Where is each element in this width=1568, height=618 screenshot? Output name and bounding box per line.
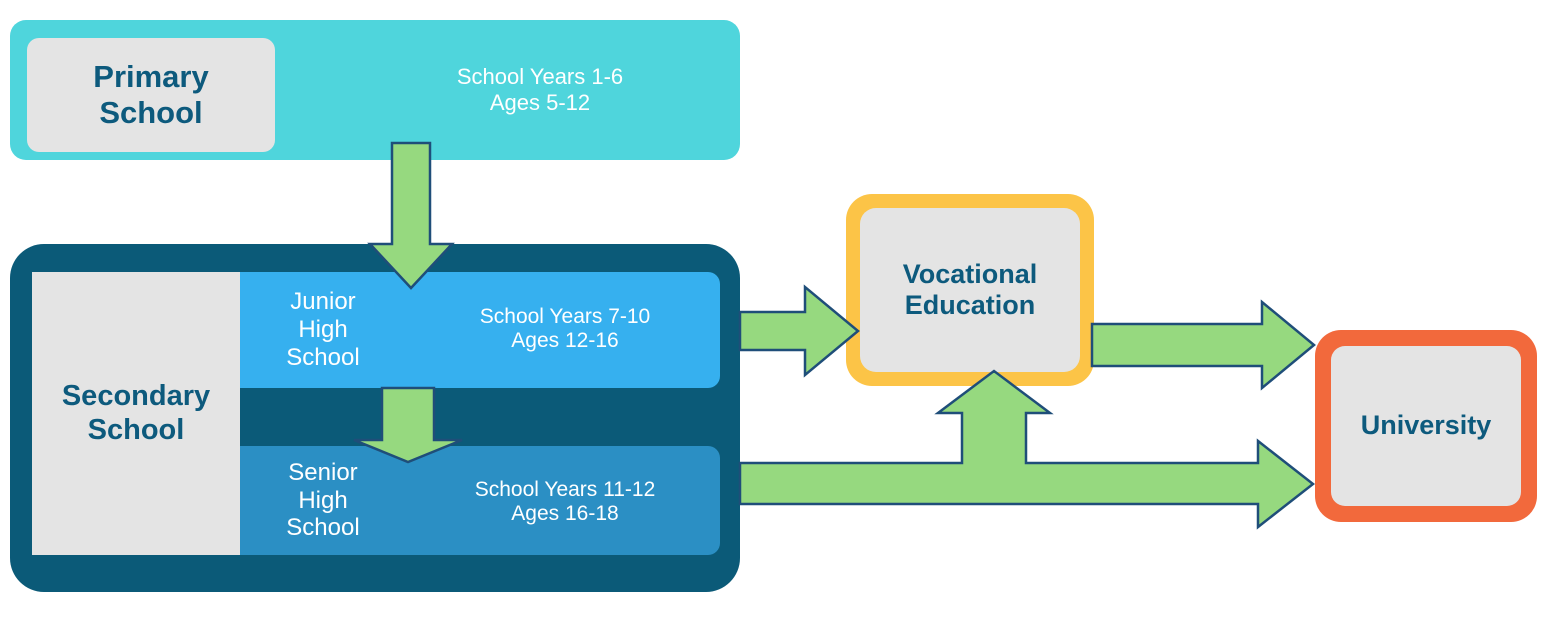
arrow-junior-to-vocational-icon	[740, 287, 858, 375]
senior-high-school-label: Senior High School	[248, 446, 398, 555]
junior-high-school-detail: School Years 7-10 Ages 12-16	[420, 288, 710, 370]
diagram-canvas: Primary School School Years 1-6 Ages 5-1…	[0, 0, 1568, 618]
junior-high-school-label: Junior High School	[248, 272, 398, 388]
arrow-vocational-to-university-icon	[1092, 302, 1314, 388]
vocational-education-label: Vocational Education	[860, 208, 1080, 372]
university-label: University	[1331, 346, 1521, 506]
primary-school-label: Primary School	[27, 38, 275, 152]
arrow-senior-to-university-and-vocational-icon	[740, 371, 1313, 527]
primary-school-detail: School Years 1-6 Ages 5-12	[340, 50, 740, 130]
senior-high-school-detail: School Years 11-12 Ages 16-18	[420, 462, 710, 542]
secondary-school-label: Secondary School	[32, 272, 240, 555]
